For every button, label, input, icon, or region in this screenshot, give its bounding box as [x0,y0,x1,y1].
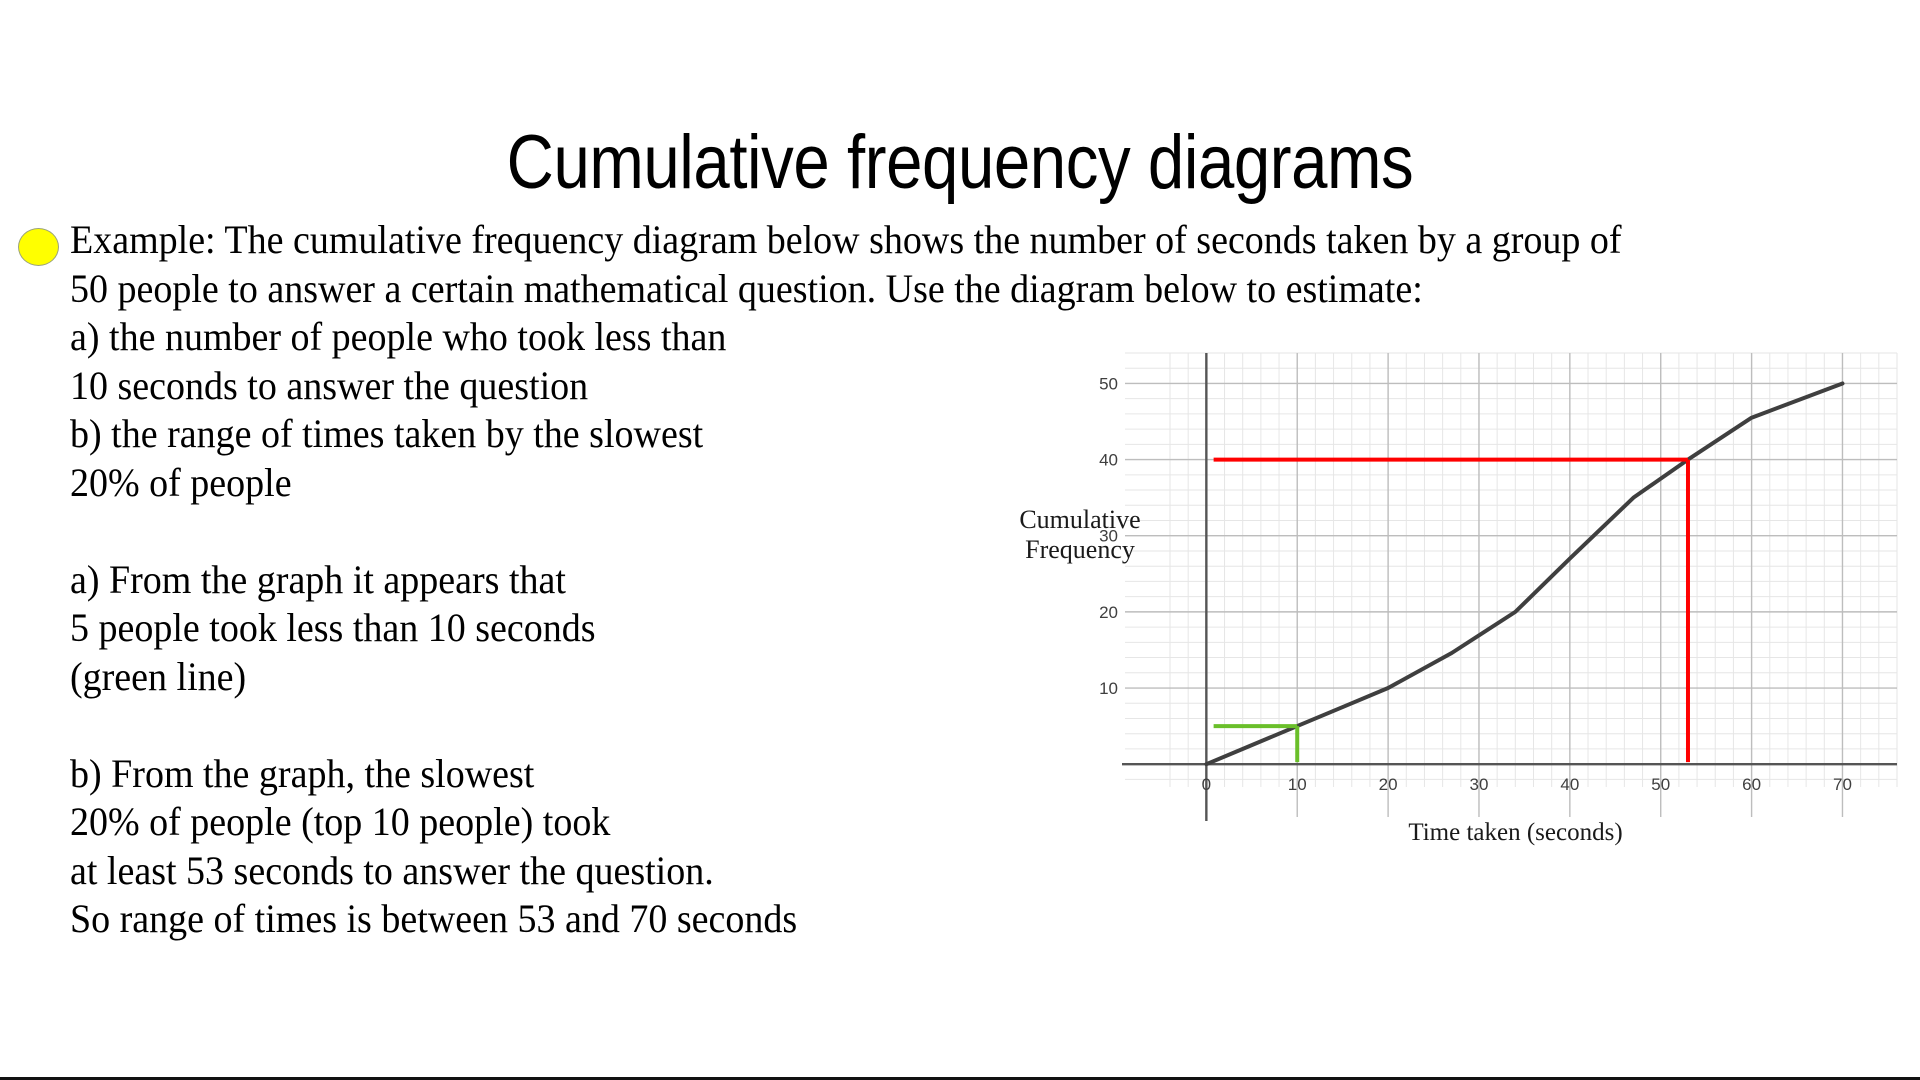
y-axis-title-line: Cumulative [1019,505,1140,534]
chart-minor-gridlines [1125,353,1897,787]
body-line-1: 50 people to answer a certain mathematic… [70,265,1807,314]
y-tick-label: 40 [1099,451,1118,470]
x-tick-label: 0 [1202,775,1211,794]
bullet-row: Example: The cumulative frequency diagra… [18,216,1898,265]
x-tick-label: 10 [1288,775,1307,794]
x-tick-label: 30 [1470,775,1489,794]
yellow-circle-bullet-icon [18,228,59,266]
chart-axis-titles: Time taken (seconds)CumulativeFrequency [1019,505,1622,846]
y-tick-label: 50 [1099,374,1118,393]
y-tick-label: 20 [1099,603,1118,622]
x-tick-label: 20 [1379,775,1398,794]
x-tick-label: 50 [1651,775,1670,794]
chart-tick-labels: 0102030405060701020304050 [1099,374,1852,794]
body-line-0: Example: The cumulative frequency diagra… [70,216,1807,265]
page-title: Cumulative frequency diagrams [134,123,1785,203]
chart-series-lines [1206,383,1842,764]
cumulative-frequency-curve [1206,383,1842,764]
x-tick-label: 40 [1560,775,1579,794]
slide-canvas: Cumulative frequency diagrams Example: T… [0,0,1920,1080]
x-axis-title: Time taken (seconds) [1408,819,1622,846]
y-axis-title-line: Frequency [1025,535,1135,564]
y-tick-label: 10 [1099,679,1118,698]
chart-major-gridlines [1125,353,1897,817]
x-tick-label: 70 [1833,775,1852,794]
chart-svg: 0102030405060701020304050 Time taken (se… [955,345,1905,905]
x-tick-label: 60 [1742,775,1761,794]
cumulative-frequency-chart: 0102030405060701020304050 Time taken (se… [955,345,1905,905]
